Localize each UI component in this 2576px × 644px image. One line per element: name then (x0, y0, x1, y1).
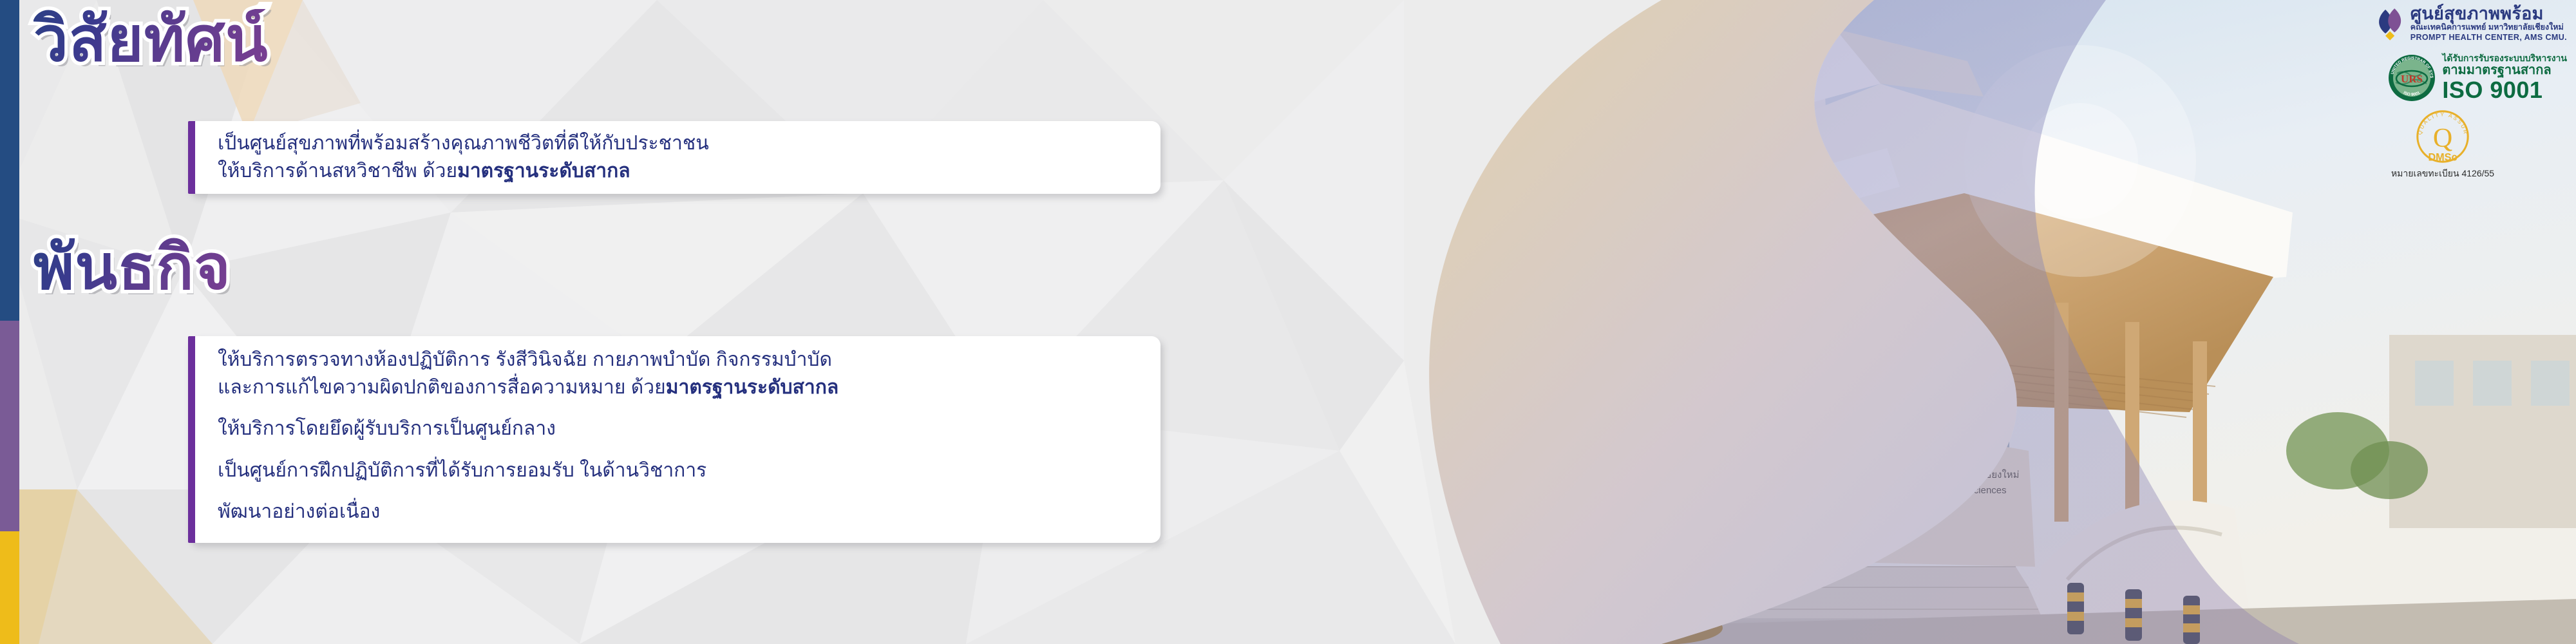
logo-title-th: ศูนย์สุขภาพพร้อม (2410, 5, 2567, 23)
dmsc-quality-seal-icon: QUALITY ASSURANCE Q DMSc (2415, 109, 2470, 164)
svg-text:URS: URS (2401, 73, 2423, 85)
vision-card-accent-bar (188, 121, 195, 194)
logo-subtitle-en: PROMPT HEALTH CENTER, AMS CMU. (2410, 33, 2567, 43)
vision-line-1: เป็นศูนย์สุขภาพที่พร้อมสร้างคุณภาพชีวิตท… (218, 130, 1142, 158)
mission-line-5-text: พัฒนาอย่างต่อเนื่อง (218, 501, 380, 522)
iso-line-2: ตามมาตรฐานสากล (2442, 63, 2567, 78)
left-color-rail (0, 0, 19, 644)
mission-line-4-text: เป็นศูนย์การฝึกปฏิบัติการที่ได้รับการยอม… (218, 460, 706, 481)
iso-text-group: ได้รับการรับรองระบบบริหารงาน ตามมาตรฐานส… (2442, 53, 2567, 102)
iso-certification-row: URS UNITED REGISTRAR OF SYSTEMS ISO 9001… (2318, 53, 2567, 102)
rail-segment-purple (0, 321, 19, 531)
mission-line-2-bold: มาตรฐานระดับสากล (666, 377, 839, 398)
branding-block: ศูนย์สุขภาพพร้อม คณะเทคนิคการแพทย์ มหาวิ… (2318, 5, 2567, 181)
mission-card: ให้บริการตรวจทางห้องปฏิบัติการ รังสีวินิ… (188, 336, 1160, 543)
rail-segment-navy (0, 0, 19, 321)
vision-card: เป็นศูนย์สุขภาพที่พร้อมสร้างคุณภาพชีวิตท… (188, 121, 1160, 194)
iso-line-3: ISO 9001 (2442, 78, 2567, 102)
mission-line-5: พัฒนาอย่างต่อเนื่อง (218, 498, 1142, 526)
logo-subtitle-th: คณะเทคนิคการแพทย์ มหาวิทยาลัยเชียงใหม่ (2410, 23, 2567, 33)
mission-line-3-text: ให้บริการโดยยึดผู้รับบริการเป็นศูนย์กลาง (218, 418, 556, 439)
vision-line-1-text: เป็นศูนย์สุขภาพที่พร้อมสร้างคุณภาพชีวิตท… (218, 133, 709, 154)
vision-heading-text: วิสัยทัศน์ (33, 9, 269, 71)
banner-root: ศูนย์สุขภาพพร้อม PROMPT HEALTH CENTER (0, 0, 2576, 644)
logo-text-group: ศูนย์สุขภาพพร้อม คณะเทคนิคการแพทย์ มหาวิ… (2410, 5, 2567, 43)
mission-heading-text: พันธกิจ (33, 237, 231, 299)
mission-line-1: ให้บริการตรวจทางห้องปฏิบัติการ รังสีวินิ… (218, 346, 1142, 374)
mission-line-4: เป็นศูนย์การฝึกปฏิบัติการที่ได้รับการยอม… (218, 457, 1142, 485)
vision-line-2: ให้บริการด้านสหวิชาชีพ ด้วยมาตรฐานระดับส… (218, 158, 1142, 185)
svg-text:DMSc: DMSc (2428, 151, 2457, 163)
mission-heading: พันธกิจ พันธกิจ พันธกิจ (33, 237, 231, 299)
mission-card-accent-bar (188, 336, 195, 543)
svg-text:Q: Q (2433, 124, 2452, 153)
mission-line-2-text: และการแก้ไขความผิดปกติของการสื่อความหมาย… (218, 377, 666, 398)
vision-line-2-text: ให้บริการด้านสหวิชาชีพ ด้วย (218, 160, 457, 182)
quality-assurance-block: QUALITY ASSURANCE Q DMSc หมายเลขทะเบียน … (2318, 109, 2567, 181)
vision-line-2-bold: มาตรฐานระดับสากล (457, 160, 630, 182)
vision-heading: วิสัยทัศน์ วิสัยทัศน์ วิสัยทัศน์ (33, 9, 269, 71)
logo-row: ศูนย์สุขภาพพร้อม คณะเทคนิคการแพทย์ มหาวิ… (2318, 5, 2567, 43)
iso-line-1: ได้รับการรับรองระบบบริหารงาน (2442, 53, 2567, 63)
mission-line-1-text: ให้บริการตรวจทางห้องปฏิบัติการ รังสีวินิ… (218, 349, 832, 370)
urs-seal-icon: URS UNITED REGISTRAR OF SYSTEMS ISO 9001 (2388, 54, 2436, 102)
prompt-health-logo-icon (2376, 7, 2405, 41)
mission-line-2: และการแก้ไขความผิดปกติของการสื่อความหมาย… (218, 374, 1142, 402)
mission-line-3: ให้บริการโดยยึดผู้รับบริการเป็นศูนย์กลาง (218, 415, 1142, 443)
rail-segment-gold (0, 531, 19, 644)
registration-number: หมายเลขทะเบียน 4126/55 (2391, 167, 2494, 181)
